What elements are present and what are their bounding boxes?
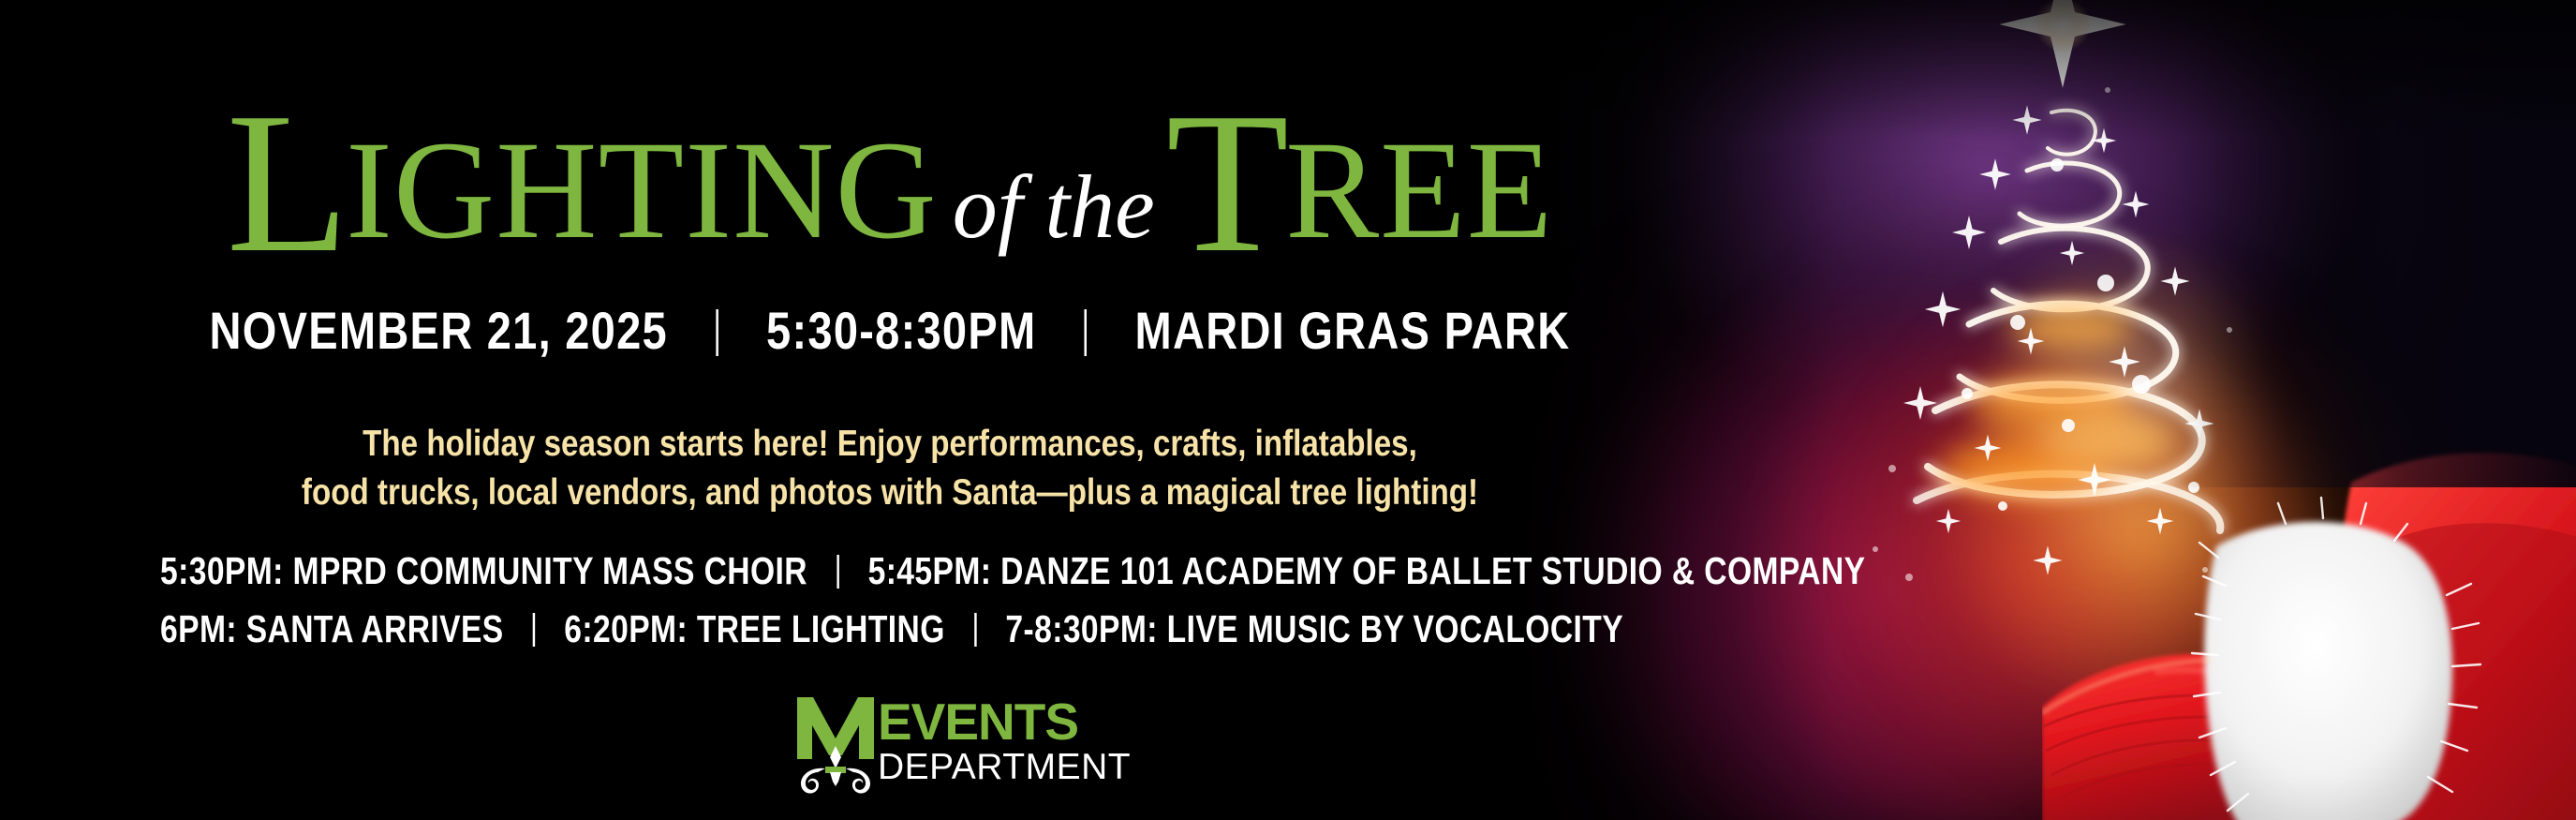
logo-line-events: EVENTS — [878, 695, 1131, 748]
detail-separator-1 — [716, 309, 718, 356]
poster-content: CITY OF MOBILE'S LIGHTING of the TREE NO… — [0, 0, 1780, 820]
schedule-separator-2 — [533, 613, 535, 647]
title-word-tree: TREE — [1166, 89, 1554, 263]
mobile-m-fleur-icon — [792, 693, 881, 797]
event-schedule: 5:30PM: MPRD COMMUNITY MASS CHOIR 5:45PM… — [160, 542, 1620, 658]
santa-hands-icon — [2042, 426, 2576, 820]
title-dropcap-t: T — [1166, 70, 1285, 294]
blurb-line-1: The holiday season starts here! Enjoy pe… — [134, 420, 1647, 469]
schedule-row-1: 5:30PM: MPRD COMMUNITY MASS CHOIR 5:45PM… — [160, 542, 1620, 600]
logo-line-department: DEPARTMENT — [878, 748, 1131, 787]
event-blurb: The holiday season starts here! Enjoy pe… — [134, 420, 1647, 517]
schedule-item-choir: 5:30PM: MPRD COMMUNITY MASS CHOIR — [160, 549, 807, 592]
event-date: NOVEMBER 21, 2025 — [210, 301, 668, 360]
event-location: MARDI GRAS PARK — [1135, 301, 1571, 360]
logo-wordmark: EVENTS DEPARTMENT — [878, 695, 1131, 787]
title-lighting-rest: IGHTING — [346, 112, 938, 268]
events-department-logo[interactable]: EVENTS DEPARTMENT — [792, 693, 1073, 797]
title-tree-rest: REE — [1285, 112, 1553, 268]
event-details-line: NOVEMBER 21, 2025 5:30-8:30PM MARDI GRAS… — [142, 300, 1637, 361]
schedule-item-ballet: 5:45PM: DANZE 101 ACADEMY OF BALLET STUD… — [868, 549, 1866, 592]
schedule-item-live-music: 7-8:30PM: LIVE MUSIC BY VOCALOCITY — [1005, 607, 1623, 650]
event-poster: CITY OF MOBILE'S LIGHTING of the TREE NO… — [0, 0, 2576, 820]
page-title: LIGHTING of the TREE — [0, 89, 1780, 276]
schedule-row-2: 6PM: SANTA ARRIVES 6:20PM: TREE LIGHTING… — [160, 600, 1620, 658]
event-time: 5:30-8:30PM — [766, 301, 1036, 360]
title-connector: of the — [953, 162, 1155, 252]
title-dropcap-l: L — [227, 70, 346, 294]
title-word-lighting: LIGHTING — [227, 89, 938, 263]
schedule-separator-1 — [836, 555, 838, 589]
blurb-line-2: food trucks, local vendors, and photos w… — [134, 469, 1647, 517]
detail-separator-2 — [1085, 309, 1088, 356]
schedule-separator-3 — [974, 613, 976, 647]
schedule-item-santa: 6PM: SANTA ARRIVES — [160, 607, 504, 650]
schedule-item-tree-lighting: 6:20PM: TREE LIGHTING — [564, 607, 944, 650]
